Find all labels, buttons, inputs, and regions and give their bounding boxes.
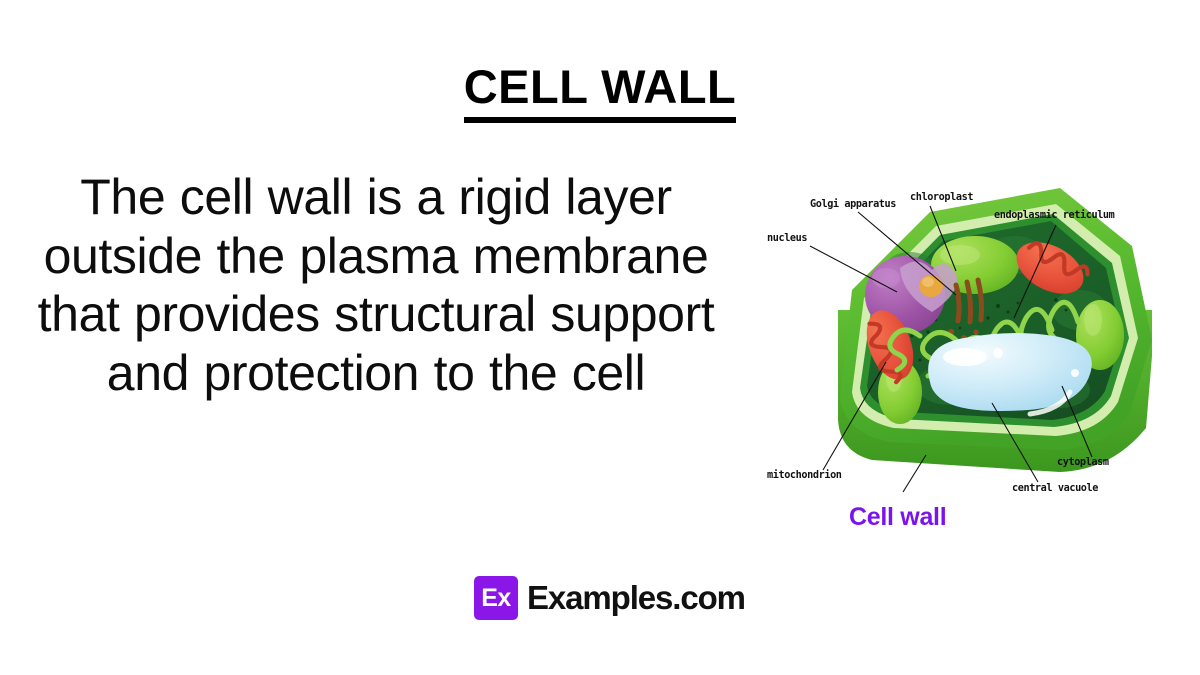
cell-wall-caption: Cell wall	[849, 503, 946, 531]
page-title: CELL WALL	[464, 62, 737, 123]
logo-wordmark: Examples.com	[527, 579, 745, 617]
cell-illustration: Golgi apparatus chloroplast endoplasmic …	[760, 160, 1200, 560]
label-chloroplast: chloroplast	[910, 192, 973, 203]
title-block: CELL WALL	[0, 62, 1200, 123]
definition-text: The cell wall is a rigid layer outside t…	[18, 168, 734, 402]
label-nucleus: nucleus	[767, 233, 807, 244]
definition-block: The cell wall is a rigid layer outside t…	[18, 168, 734, 402]
plant-cell-diagram: Golgi apparatus chloroplast endoplasmic …	[760, 160, 1200, 560]
logo-mark-icon: Ex	[474, 576, 518, 620]
label-mitochondrion: mitochondrion	[767, 469, 842, 481]
label-cytoplasm: cytoplasm	[1057, 457, 1109, 468]
examples-logo[interactable]: Ex Examples.com	[474, 576, 745, 620]
label-golgi-apparatus: Golgi apparatus	[810, 198, 896, 210]
label-central-vacuole: central vacuole	[1012, 483, 1098, 494]
label-endoplasmic-reticulum: endoplasmic reticulum	[994, 209, 1115, 221]
